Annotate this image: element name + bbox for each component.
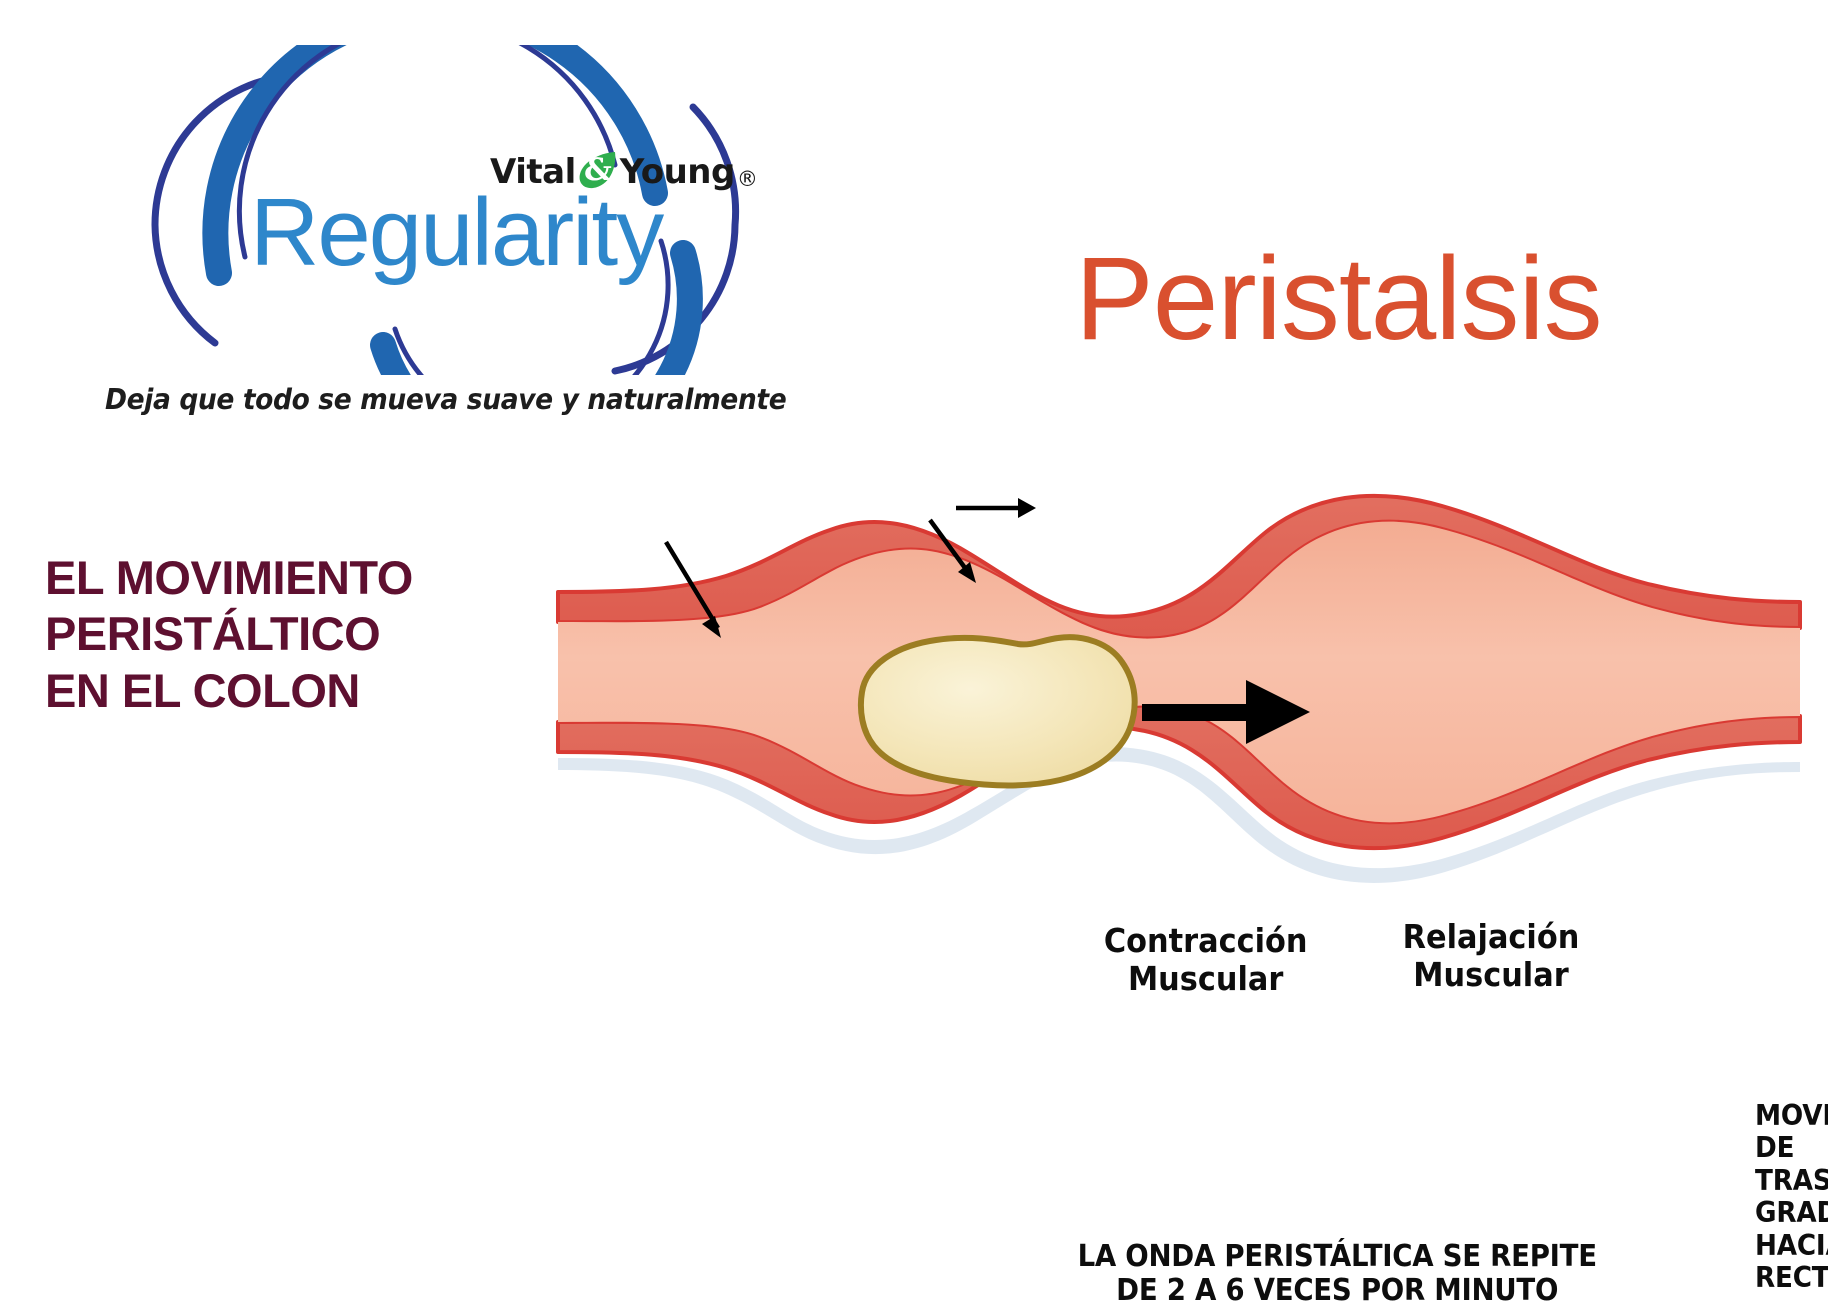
leaf-ampersand-icon: & xyxy=(577,150,619,190)
label-contraction-line-2: Muscular xyxy=(1104,960,1308,998)
brand-suffix: Young xyxy=(620,152,735,192)
brand-logo: Regularity Vital&Young® Deja que todo se… xyxy=(95,45,785,435)
ampersand-glyph: & xyxy=(577,150,619,190)
label-movement-line-2: GRADUAL HACIA EL RECTO xyxy=(1755,1197,1828,1294)
label-muscular-relaxation: Relajación Muscular xyxy=(1403,918,1580,993)
label-relaxation-line-1: Relajación xyxy=(1403,918,1580,956)
registered-mark-icon: ® xyxy=(737,167,758,191)
brand-prefix: Vital xyxy=(490,152,576,192)
logo-wordmark: Regularity xyxy=(250,185,662,281)
brand-tagline-vital-young: Vital&Young® xyxy=(490,150,757,192)
poster-canvas: Regularity Vital&Young® Deja que todo se… xyxy=(0,0,1828,1180)
logo-tagline: Deja que todo se mueva suave y naturalme… xyxy=(105,383,786,416)
heading-line-3: EN EL COLON xyxy=(45,663,413,719)
relaxation-pointer-arrow-horizontal xyxy=(956,498,1036,518)
label-muscular-contraction: Contracción Muscular xyxy=(1104,922,1308,997)
caption-line-2: DE 2 A 6 VECES POR MINUTO xyxy=(1078,1274,1597,1308)
caption-line-1: LA ONDA PERISTÁLTICA SE REPITE xyxy=(1078,1240,1597,1274)
intestine-lumen xyxy=(558,522,1800,823)
section-heading: EL MOVIMIENTO PERISTÁLTICO EN EL COLON xyxy=(45,550,413,719)
peristalsis-diagram: Contracción Muscular Relajación Muscular… xyxy=(470,480,1828,1000)
label-gradual-movement: MOVIMIENTO DE TRASLADO GRADUAL HACIA EL … xyxy=(1755,1100,1828,1295)
heading-line-2: PERISTÁLTICO xyxy=(45,606,413,662)
label-relaxation-line-2: Muscular xyxy=(1403,956,1580,994)
label-contraction-line-1: Contracción xyxy=(1104,922,1308,960)
bolus-mass xyxy=(861,637,1135,785)
label-movement-line-1: MOVIMIENTO DE TRASLADO xyxy=(1755,1100,1828,1197)
heading-line-1: EL MOVIMIENTO xyxy=(45,550,413,606)
page-title: Peristalsis xyxy=(1075,240,1602,358)
caption-peristaltic-wave-frequency: LA ONDA PERISTÁLTICA SE REPITE DE 2 A 6 … xyxy=(1078,1240,1597,1308)
